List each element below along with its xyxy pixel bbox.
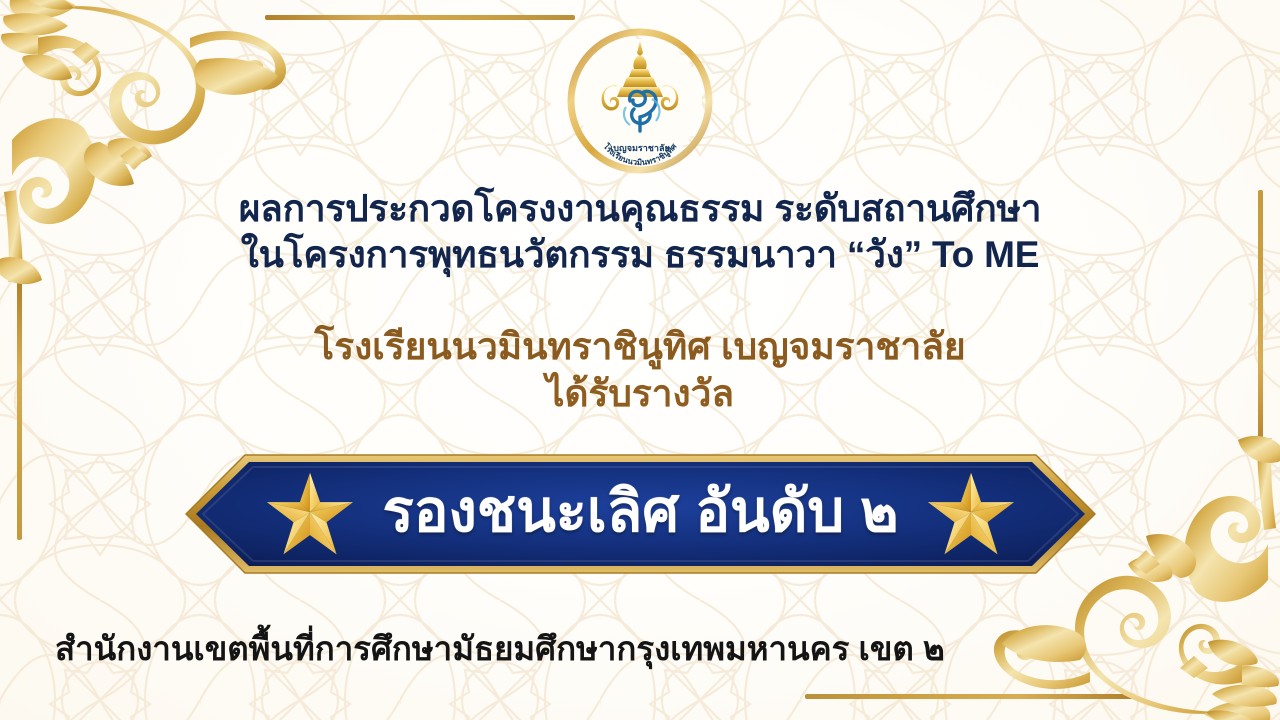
award-poster: โรงเรียนนวมินทราชินูทิศ เบญจมราชาลัย ผลก…: [0, 0, 1280, 720]
crest-bottom-text: เบญจมราชาลัย: [610, 143, 670, 154]
school-name: โรงเรียนนวมินทราชินูทิศ เบญจมราชาลัย: [0, 323, 1280, 370]
footer-organisation: สำนักงานเขตพื้นที่การศึกษามัธยมศึกษากรุง…: [55, 628, 945, 670]
title-line-2: ในโครงการพุทธนวัตกรรม ธรรมนาวา “วัง” To …: [0, 232, 1280, 278]
award-banner: รองชนะเลิศ อันดับ ๒: [183, 452, 1098, 576]
page-title: ผลการประกวดโครงงานคุณธรรม ระดับสถานศึกษา…: [0, 186, 1280, 278]
gold-rule-top: [265, 15, 575, 20]
award-rank-label: รองชนะเลิศ อันดับ ๒: [382, 480, 898, 548]
title-line-1: ผลการประกวดโครงงานคุณธรรม ระดับสถานศึกษา: [0, 186, 1280, 232]
gold-rule-bottom: [805, 694, 1135, 699]
star-icon: [264, 470, 356, 558]
star-icon: [925, 470, 1017, 558]
school-name-block: โรงเรียนนวมินทราชินูทิศ เบญจมราชาลัย ได้…: [0, 323, 1280, 417]
school-crest-logo: โรงเรียนนวมินทราชินูทิศ เบญจมราชาลัย: [566, 27, 714, 175]
awarded-label: ได้รับรางวัล: [0, 370, 1280, 417]
